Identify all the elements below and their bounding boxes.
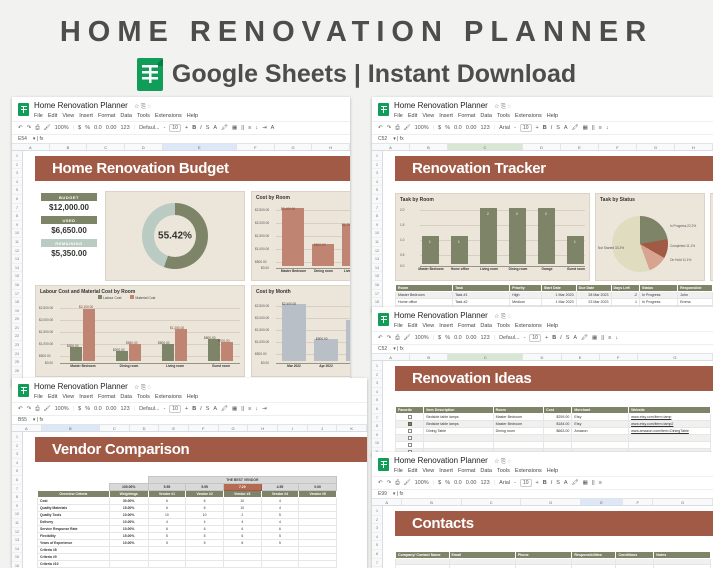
th-notes[interactable]: Notes <box>654 552 711 559</box>
th-vendor-3[interactable]: Vendor #3 <box>223 491 261 498</box>
decimal-increase-icon[interactable]: 0.00 <box>466 480 477 486</box>
font-family-select[interactable]: Arial <box>499 480 510 486</box>
font-size-decrease[interactable]: - <box>524 335 526 341</box>
table-row[interactable] <box>396 565 711 568</box>
cell-criteria[interactable]: Service Response Rate <box>38 526 110 533</box>
cell-v5[interactable] <box>299 526 337 533</box>
menu-bar[interactable]: File Edit View Insert Format Data Tools … <box>34 394 362 400</box>
cell-weighting[interactable]: 10.00% <box>109 526 148 533</box>
cell-merchant[interactable]: Amazon <box>572 428 629 435</box>
menu-edit[interactable]: Edit <box>48 113 57 119</box>
task-by-status-chart[interactable]: Task by Status In Progress 22.2% Complet… <box>595 193 705 281</box>
cell-item[interactable] <box>424 442 493 449</box>
col-B[interactable]: B <box>50 144 88 150</box>
column-headers[interactable]: A B C D E F G <box>372 499 713 506</box>
cell-responsible[interactable]: John <box>678 292 713 299</box>
col-H[interactable]: H <box>675 144 713 150</box>
cell-weighting[interactable]: 10.00% <box>109 540 148 547</box>
star-icon[interactable]: ☆ ⎘ ◌ <box>494 459 511 465</box>
table-row[interactable]: Flexibility 15.00% 5 5 6 5 <box>38 533 337 540</box>
contacts-table-wrap[interactable]: Company/ Contact Name Email Phone Respon… <box>395 551 711 568</box>
cell-favorite[interactable] <box>396 428 424 435</box>
cell-v5[interactable] <box>299 498 337 505</box>
cell-v5[interactable] <box>299 519 337 526</box>
col-E[interactable]: E <box>159 425 189 431</box>
cell-email[interactable] <box>449 565 515 568</box>
labour-material-chart[interactable]: Labour Cost and Material Cost by Room La… <box>35 285 245 377</box>
col-F[interactable]: F <box>599 144 637 150</box>
redo-icon[interactable]: ↷ <box>387 125 392 131</box>
font-size-input[interactable]: 10 <box>169 405 181 413</box>
col-E[interactable]: E <box>561 144 599 150</box>
cell-v3[interactable]: 10 <box>223 505 261 512</box>
bold-icon[interactable]: B <box>192 406 196 412</box>
menu-tools[interactable]: Tools <box>497 323 510 329</box>
formula-bar[interactable]: C52 ▾ | fx <box>372 344 713 354</box>
valign-icon[interactable]: ↓ <box>606 125 609 131</box>
th-item-description[interactable]: Item Description <box>424 407 493 414</box>
cell-v4[interactable]: 5 <box>261 540 299 547</box>
toolbar[interactable]: ↶ ↷ ⎙ 🖌 100% | $ % 0.0 0.00 123 | Defaul… <box>372 331 713 344</box>
font-size-decrease[interactable]: - <box>514 480 516 486</box>
cell-v3[interactable] <box>223 554 261 561</box>
table-row[interactable]: Service Response Rate 10.00% 6 6 6 6 <box>38 526 337 533</box>
col-C[interactable]: C <box>100 425 130 431</box>
sheet-window-contacts[interactable]: Home Renovation Planner ☆ ⎘ ◌ File Edit … <box>372 452 713 568</box>
th-start-date[interactable]: Start Date <box>541 285 576 292</box>
zoom-level[interactable]: 100% <box>55 125 69 131</box>
menu-bar[interactable]: File Edit View Insert Format Data Tools … <box>394 468 708 474</box>
menu-help[interactable]: Help <box>187 394 198 400</box>
cell-v1[interactable]: 5 <box>148 540 186 547</box>
cell-v2[interactable]: 6 <box>186 505 224 512</box>
fill-color-icon[interactable]: 🖍 <box>581 335 588 341</box>
font-family-select[interactable]: Arial <box>499 125 510 131</box>
text-color-icon[interactable]: A <box>564 480 568 486</box>
ideas-table-wrap[interactable]: Favorite Item Description Room Cost Merc… <box>395 406 711 456</box>
cell-cost[interactable] <box>544 442 572 449</box>
cell-website-link[interactable] <box>629 435 711 442</box>
col-G[interactable]: G <box>219 425 249 431</box>
cell-cost[interactable] <box>544 435 572 442</box>
menu-data[interactable]: Data <box>120 394 132 400</box>
cell-favorite[interactable] <box>396 421 424 428</box>
table-row[interactable]: Master Bedroom Task #1 High 1 Mar 2023 2… <box>396 292 713 299</box>
cell-v5[interactable] <box>299 554 337 561</box>
formula-bar[interactable]: B55 ▾ | fx <box>12 415 367 425</box>
menu-help[interactable]: Help <box>547 113 558 119</box>
table-row[interactable]: Cost 30.00% 6 6 10 4 <box>38 498 337 505</box>
contacts-canvas[interactable]: Contacts Company/ Contact Name Email Pho… <box>383 506 713 568</box>
menu-format[interactable]: Format <box>458 113 475 119</box>
align-icon[interactable]: ≡ <box>599 480 602 486</box>
paint-format-icon[interactable]: 🖌 <box>404 335 411 341</box>
cost-by-month-chart[interactable]: Cost by Month $2,500.00 $2,000.00 $1,500… <box>251 285 350 377</box>
borders-icon[interactable]: ▦ <box>232 406 237 412</box>
col-A[interactable]: A <box>12 144 50 150</box>
menu-help[interactable]: Help <box>547 468 558 474</box>
undo-icon[interactable]: ↶ <box>378 480 383 486</box>
cell-weighting[interactable]: 15.00% <box>109 505 148 512</box>
cell-v4[interactable]: 5 <box>261 512 299 519</box>
cell-v2[interactable]: 10 <box>186 512 224 519</box>
decimal-increase-icon[interactable]: 0.00 <box>106 125 117 131</box>
col-A[interactable]: A <box>372 354 410 360</box>
cell-website-link[interactable]: www.etsy.com/item=lamp2 <box>629 421 711 428</box>
th-vendor-4[interactable]: Vendor #4 <box>261 491 299 498</box>
menu-format[interactable]: Format <box>458 468 475 474</box>
sheet-window-ideas[interactable]: Home Renovation Planner ☆ ⎘ ◌ File Edit … <box>372 307 713 457</box>
cell-v1[interactable]: 6 <box>148 505 186 512</box>
col-A[interactable]: A <box>372 499 402 505</box>
menu-file[interactable]: File <box>34 113 43 119</box>
cell-room[interactable]: Master Bedroom <box>493 414 543 421</box>
cell-criteria[interactable]: Quality Materials <box>38 505 110 512</box>
paint-format-icon[interactable]: 🖌 <box>404 125 411 131</box>
cell-v2[interactable]: 5 <box>186 540 224 547</box>
redo-icon[interactable]: ↷ <box>27 406 32 412</box>
cell-merchant[interactable] <box>572 442 629 449</box>
currency-icon[interactable]: $ <box>438 125 441 131</box>
undo-icon[interactable]: ↶ <box>378 125 383 131</box>
more-formats-icon[interactable]: 123 <box>480 480 489 486</box>
cell-criteria[interactable]: Quality Tools <box>38 512 110 519</box>
col-F[interactable]: F <box>623 499 653 505</box>
th-website[interactable]: Website <box>629 407 711 414</box>
decimal-decrease-icon[interactable]: 0.0 <box>454 480 462 486</box>
wrap-icon[interactable]: ⇥ <box>262 125 267 131</box>
italic-icon[interactable]: I <box>551 480 553 486</box>
formula-bar[interactable]: E54 ▾ | fx <box>12 134 350 144</box>
menu-file[interactable]: File <box>394 113 403 119</box>
th-room[interactable]: Room <box>493 407 543 414</box>
strikethrough-icon[interactable]: S <box>566 335 570 341</box>
menu-tools[interactable]: Tools <box>137 113 150 119</box>
cell-item[interactable]: Bedside table lamps <box>424 414 493 421</box>
col-E[interactable]: E <box>581 499 623 505</box>
col-C[interactable]: C <box>448 144 523 150</box>
currency-icon[interactable]: $ <box>438 335 441 341</box>
print-icon[interactable]: ⎙ <box>395 335 399 342</box>
print-icon[interactable]: ⎙ <box>35 125 39 132</box>
zoom-level[interactable]: 100% <box>415 480 429 486</box>
cell-v2[interactable] <box>186 554 224 561</box>
cell-task[interactable]: Task #1 <box>453 292 510 299</box>
th-responsibilities[interactable]: Responsibilities <box>572 552 616 559</box>
cell-favorite[interactable] <box>396 442 424 449</box>
paint-format-icon[interactable]: 🖌 <box>44 406 51 412</box>
italic-icon[interactable]: I <box>551 125 553 131</box>
th-vendor-1[interactable]: Vendor #1 <box>148 491 186 498</box>
th-favorite[interactable]: Favorite <box>396 407 424 414</box>
col-B[interactable]: B <box>410 354 448 360</box>
col-B[interactable]: B <box>410 144 448 150</box>
currency-icon[interactable]: $ <box>438 480 441 486</box>
font-family-select[interactable]: Defaul... <box>139 125 159 131</box>
cell-merchant[interactable] <box>572 435 629 442</box>
cell-weighting[interactable]: 10.00% <box>109 519 148 526</box>
col-I[interactable]: I <box>278 425 308 431</box>
font-size-input[interactable]: 10 <box>520 479 532 487</box>
cell-priority[interactable]: Medium <box>510 299 542 306</box>
table-row[interactable]: Years of Experience 10.00% 5 5 6 5 <box>38 540 337 547</box>
bold-icon[interactable]: B <box>543 125 547 131</box>
document-title[interactable]: Home Renovation Planner ☆ ⎘ ◌ <box>394 456 708 466</box>
cell-item[interactable]: Bedside table lamps <box>424 421 493 428</box>
menu-format[interactable]: Format <box>98 394 115 400</box>
favorite-checkbox[interactable] <box>408 443 412 447</box>
cell-favorite[interactable] <box>396 414 424 421</box>
th-status[interactable]: Status <box>640 285 678 292</box>
font-size-decrease[interactable]: - <box>514 125 516 131</box>
row-headers[interactable]: 123 456 789 101112 131415 161718 192021 … <box>12 151 23 387</box>
col-F[interactable]: F <box>189 425 219 431</box>
cell-status[interactable]: In Progress <box>640 299 678 306</box>
italic-icon[interactable]: I <box>560 335 562 341</box>
bold-icon[interactable]: B <box>192 125 196 131</box>
merge-cells-icon[interactable]: || <box>592 480 595 486</box>
column-headers[interactable]: A B C D E F G H <box>12 144 350 151</box>
cell-v2[interactable]: 6 <box>186 498 224 505</box>
cell-v4[interactable]: 4 <box>261 519 299 526</box>
toolbar[interactable]: ↶ ↷ ⎙ 🖌 100% | $ % 0.0 0.00 123 | Defaul… <box>12 121 350 134</box>
font-size-increase[interactable]: + <box>185 125 188 131</box>
ideas-canvas[interactable]: Renovation Ideas Favorite Item Descripti… <box>383 361 713 457</box>
col-B[interactable]: B <box>42 425 100 431</box>
th-company-contact-name[interactable]: Company/ Contact Name <box>396 552 450 559</box>
font-size-input[interactable]: 10 <box>529 334 541 342</box>
document-title[interactable]: Home Renovation Planner ☆ ⎘ ◌ <box>394 101 708 111</box>
th-vendor-2[interactable]: Vendor #2 <box>186 491 224 498</box>
ideas-table[interactable]: Favorite Item Description Room Cost Merc… <box>395 406 711 456</box>
redo-icon[interactable]: ↷ <box>387 335 392 341</box>
undo-icon[interactable]: ↶ <box>18 125 23 131</box>
decimal-increase-icon[interactable]: 0.00 <box>466 125 477 131</box>
table-row[interactable] <box>396 442 711 449</box>
col-H[interactable]: H <box>248 425 278 431</box>
th-responsible[interactable]: Responsible <box>678 285 713 292</box>
font-size-increase[interactable]: + <box>185 406 188 412</box>
menu-extensions[interactable]: Extensions <box>155 113 182 119</box>
menu-edit[interactable]: Edit <box>48 394 57 400</box>
menu-insert[interactable]: Insert <box>439 113 453 119</box>
percent-icon[interactable]: % <box>445 125 450 131</box>
cell-reference[interactable]: E54 <box>18 136 27 142</box>
fill-color-icon[interactable]: 🖍 <box>221 406 228 412</box>
col-D[interactable]: D <box>523 144 561 150</box>
menu-tools[interactable]: Tools <box>497 468 510 474</box>
cell-v4[interactable] <box>261 547 299 554</box>
menu-insert[interactable]: Insert <box>79 394 93 400</box>
zoom-level[interactable]: 100% <box>55 406 69 412</box>
cell-start[interactable]: 1 Mar 2023 <box>541 299 576 306</box>
th-days-left[interactable]: Days Left <box>611 285 640 292</box>
cell-weighting[interactable]: 10.00% <box>109 512 148 519</box>
decimal-decrease-icon[interactable]: 0.0 <box>454 125 462 131</box>
cell-v3[interactable]: 2 <box>223 512 261 519</box>
paint-format-icon[interactable]: 🖌 <box>44 125 51 131</box>
percent-icon[interactable]: % <box>445 335 450 341</box>
menu-edit[interactable]: Edit <box>408 468 417 474</box>
menu-file[interactable]: File <box>394 468 403 474</box>
cell-v1[interactable] <box>148 554 186 561</box>
row-headers[interactable]: 123 456 789 101112 131415 16 <box>12 432 23 568</box>
cell-reference[interactable]: C52 <box>378 136 387 142</box>
decimal-increase-icon[interactable]: 0.00 <box>106 406 117 412</box>
align-icon[interactable]: ≡ <box>248 125 251 131</box>
cell-v1[interactable] <box>148 561 186 568</box>
sheet-window-tracker[interactable]: Home Renovation Planner ☆ ⎘ ◌ File Edit … <box>372 97 713 312</box>
th-email[interactable]: Email <box>449 552 515 559</box>
tracker-canvas[interactable]: Renovation Tracker Task by Room 2.0 1.5 … <box>383 151 713 312</box>
menu-help[interactable]: Help <box>547 323 558 329</box>
task-by-room-chart[interactable]: Task by Room 2.0 1.5 1.0 0.5 0.0 1 Maste… <box>395 193 590 281</box>
align-icon[interactable]: ≡ <box>599 125 602 131</box>
row-headers[interactable]: 123 456 789 101112 <box>372 361 383 457</box>
decimal-decrease-icon[interactable]: 0.0 <box>454 335 462 341</box>
valign-icon[interactable]: ↓ <box>615 335 618 341</box>
budget-canvas[interactable]: Home Renovation Budget BUDGET $12,000.00… <box>23 151 350 387</box>
col-C[interactable]: C <box>87 144 125 150</box>
cell-v1[interactable]: 4 <box>148 519 186 526</box>
print-icon[interactable]: ⎙ <box>395 480 399 487</box>
cell-v5[interactable] <box>299 561 337 568</box>
th-weightings[interactable]: Weightings <box>109 491 148 498</box>
cell-item[interactable]: Dining Table <box>424 428 493 435</box>
cell-v3[interactable]: 6 <box>223 540 261 547</box>
cell-room[interactable]: Master Bedroom <box>493 421 543 428</box>
th-conditions[interactable]: Conditions <box>616 552 654 559</box>
valign-icon[interactable]: ↓ <box>255 125 258 131</box>
merge-cells-icon[interactable]: || <box>592 125 595 131</box>
cell-criteria[interactable]: Criteria #8 <box>38 547 110 554</box>
cell-v3[interactable]: 6 <box>223 526 261 533</box>
cell-v1[interactable]: 10 <box>148 512 186 519</box>
cell-v4[interactable]: 4 <box>261 498 299 505</box>
menu-insert[interactable]: Insert <box>439 323 453 329</box>
star-icon[interactable]: ☆ ⎘ ◌ <box>494 314 511 320</box>
cell-weighting[interactable]: 15.00% <box>109 533 148 540</box>
budget-donut-chart[interactable]: 55.42% <box>105 191 245 281</box>
menu-file[interactable]: File <box>394 323 403 329</box>
strikethrough-icon[interactable]: S <box>556 480 560 486</box>
cell-website-link[interactable] <box>629 442 711 449</box>
decimal-decrease-icon[interactable]: 0.0 <box>94 125 102 131</box>
cell-merchant[interactable]: Etsy <box>572 414 629 421</box>
more-formats-icon[interactable]: 123 <box>480 335 489 341</box>
redo-icon[interactable]: ↷ <box>387 480 392 486</box>
menu-tools[interactable]: Tools <box>137 394 150 400</box>
align-icon[interactable]: ≡ <box>608 335 611 341</box>
font-family-select[interactable]: Defaul... <box>139 406 159 412</box>
rotate-icon[interactable]: A <box>271 125 275 131</box>
formula-bar[interactable]: C52 ▾ | fx <box>372 134 713 144</box>
text-color-icon[interactable]: A <box>573 335 577 341</box>
col-D[interactable]: D <box>130 425 160 431</box>
cell-room[interactable]: Dining room <box>493 428 543 435</box>
font-size-decrease[interactable]: - <box>164 406 166 412</box>
cell-website-link[interactable]: www.etsy.com/item=lamp <box>629 414 711 421</box>
text-color-icon[interactable]: A <box>564 125 568 131</box>
merge-cells-icon[interactable]: || <box>241 125 244 131</box>
borders-icon[interactable]: ▦ <box>583 125 588 131</box>
fill-color-icon[interactable]: 🖍 <box>572 480 579 486</box>
col-C[interactable]: C <box>448 354 523 360</box>
star-icon[interactable]: ☆ ⎘ ◌ <box>134 104 151 110</box>
cell-criteria[interactable]: Flexibility <box>38 533 110 540</box>
merge-cells-icon[interactable]: || <box>601 335 604 341</box>
cell-reference[interactable]: C52 <box>378 346 387 352</box>
currency-icon[interactable]: $ <box>78 125 81 131</box>
cell-v1[interactable]: 6 <box>148 526 186 533</box>
font-family-select[interactable]: Defaul... <box>499 335 519 341</box>
cell-reference[interactable]: B55 <box>18 417 27 423</box>
cell-cost[interactable]: $184.00 <box>544 421 572 428</box>
menu-insert[interactable]: Insert <box>439 468 453 474</box>
fill-color-icon[interactable]: 🖍 <box>572 125 579 131</box>
undo-icon[interactable]: ↶ <box>18 406 23 412</box>
cell-v1[interactable]: 5 <box>148 533 186 540</box>
menu-extensions[interactable]: Extensions <box>515 468 542 474</box>
favorite-checkbox[interactable] <box>408 436 412 440</box>
menu-view[interactable]: View <box>422 113 434 119</box>
favorite-checkbox[interactable] <box>408 422 412 426</box>
vendor-table-wrap[interactable]: THE BEST VENDOR 100.00% 5.55 5.95 7.20 4… <box>37 476 337 568</box>
col-B[interactable]: B <box>402 499 462 505</box>
menu-format[interactable]: Format <box>458 323 475 329</box>
col-C[interactable]: C <box>462 499 522 505</box>
cell-weighting[interactable] <box>109 561 148 568</box>
menu-bar[interactable]: File Edit View Insert Format Data Tools … <box>394 323 708 329</box>
table-row[interactable]: Bedside table lamps Master Bedroom $184.… <box>396 421 711 428</box>
cell-v2[interactable] <box>186 547 224 554</box>
row-headers[interactable]: 123 456 789 101112 131415 161718 19 <box>372 151 383 312</box>
menu-bar[interactable]: File Edit View Insert Format Data Tools … <box>394 113 708 119</box>
sheet-window-budget[interactable]: Home Renovation Planner ☆ ⎘ ◌ File Edit … <box>12 97 350 387</box>
col-E[interactable]: E <box>562 354 600 360</box>
table-row[interactable]: Home office Task #2 Medium 1 Mar 2023 23… <box>396 299 713 306</box>
col-G[interactable]: G <box>637 144 675 150</box>
font-size-input[interactable]: 10 <box>169 124 181 132</box>
more-formats-icon[interactable]: 123 <box>120 406 129 412</box>
col-D[interactable]: D <box>523 354 561 360</box>
borders-icon[interactable]: ▦ <box>583 480 588 486</box>
cell-v3[interactable]: 10 <box>223 498 261 505</box>
cell-due[interactable]: 28 Mar 2023 <box>576 292 611 299</box>
column-headers[interactable]: A B C D E F G H I J K <box>12 425 367 432</box>
cell-v3[interactable] <box>223 561 261 568</box>
col-G[interactable]: G <box>638 354 713 360</box>
menu-view[interactable]: View <box>62 113 74 119</box>
table-row[interactable] <box>396 435 711 442</box>
menu-insert[interactable]: Insert <box>79 113 93 119</box>
star-icon[interactable]: ☆ ⎘ ◌ <box>134 385 151 391</box>
col-G[interactable]: G <box>653 499 713 505</box>
italic-icon[interactable]: I <box>200 125 202 131</box>
font-size-input[interactable]: 10 <box>520 124 532 132</box>
cell-v2[interactable]: 4 <box>186 519 224 526</box>
favorite-checkbox[interactable] <box>408 429 412 433</box>
menu-data[interactable]: Data <box>480 113 492 119</box>
more-formats-icon[interactable]: 123 <box>480 125 489 131</box>
redo-icon[interactable]: ↷ <box>27 125 32 131</box>
more-formats-icon[interactable]: 123 <box>120 125 129 131</box>
font-size-decrease[interactable]: - <box>164 125 166 131</box>
cell-cost[interactable]: $259.00 <box>544 414 572 421</box>
cell-company[interactable] <box>396 565 450 568</box>
cell-v5[interactable] <box>299 505 337 512</box>
th-phone[interactable]: Phone <box>515 552 572 559</box>
